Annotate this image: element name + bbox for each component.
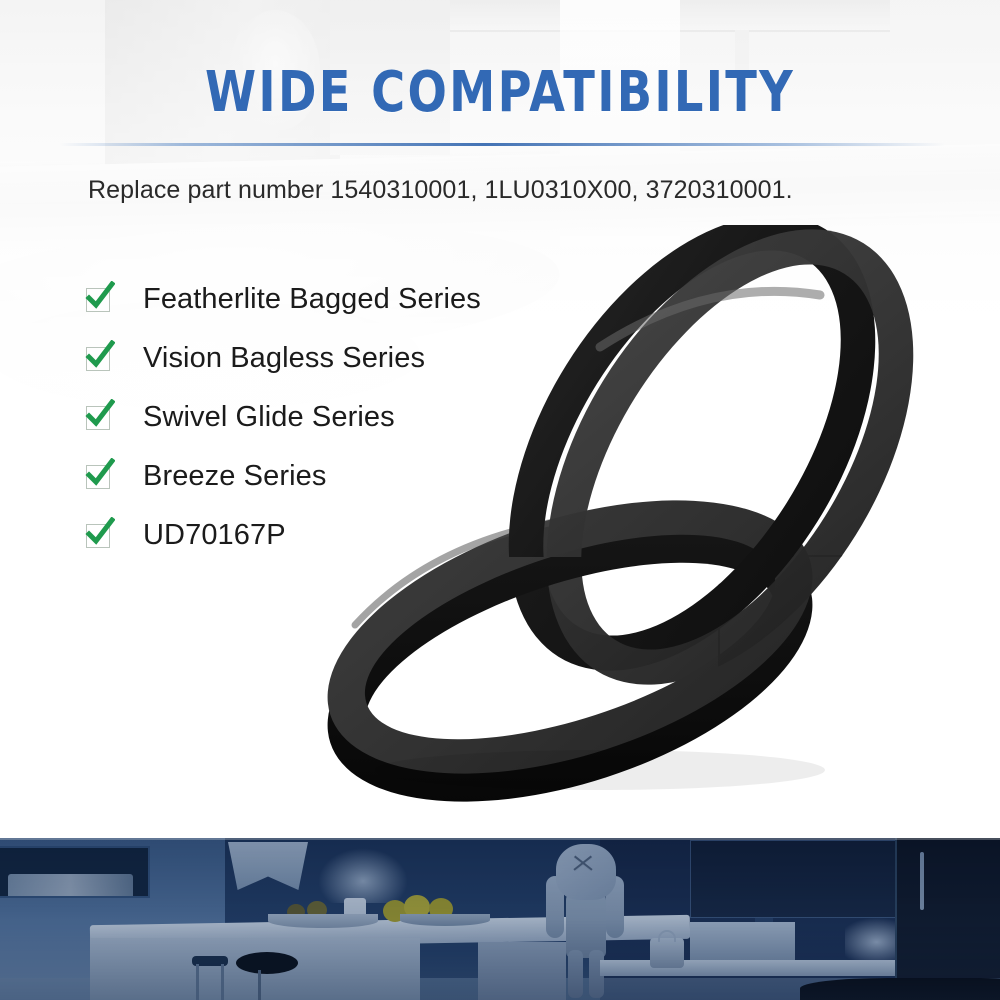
bottom-banner-interior-scene: [0, 838, 1000, 1000]
green-check-icon: [86, 406, 110, 430]
green-check-icon: [86, 347, 110, 371]
subtitle-part-numbers: Replace part number 1540310001, 1LU0310X…: [88, 176, 793, 205]
banner-blue-tint-overlay: [0, 838, 1000, 1000]
title-divider: [60, 143, 945, 146]
page-title: WIDE COMPATIBILITY: [40, 60, 960, 125]
green-check-icon: [86, 524, 110, 548]
green-check-icon: [86, 465, 110, 489]
main-panel: WIDE COMPATIBILITY Replace part number 1…: [0, 0, 1000, 838]
product-infographic: WIDE COMPATIBILITY Replace part number 1…: [0, 0, 1000, 1000]
list-item-label: Breeze Series: [143, 460, 326, 493]
product-image-vacuum-belts: [300, 225, 1000, 825]
banner-top-edge: [0, 838, 1000, 840]
green-check-icon: [86, 288, 110, 312]
list-item-label: UD70167P: [143, 519, 286, 552]
